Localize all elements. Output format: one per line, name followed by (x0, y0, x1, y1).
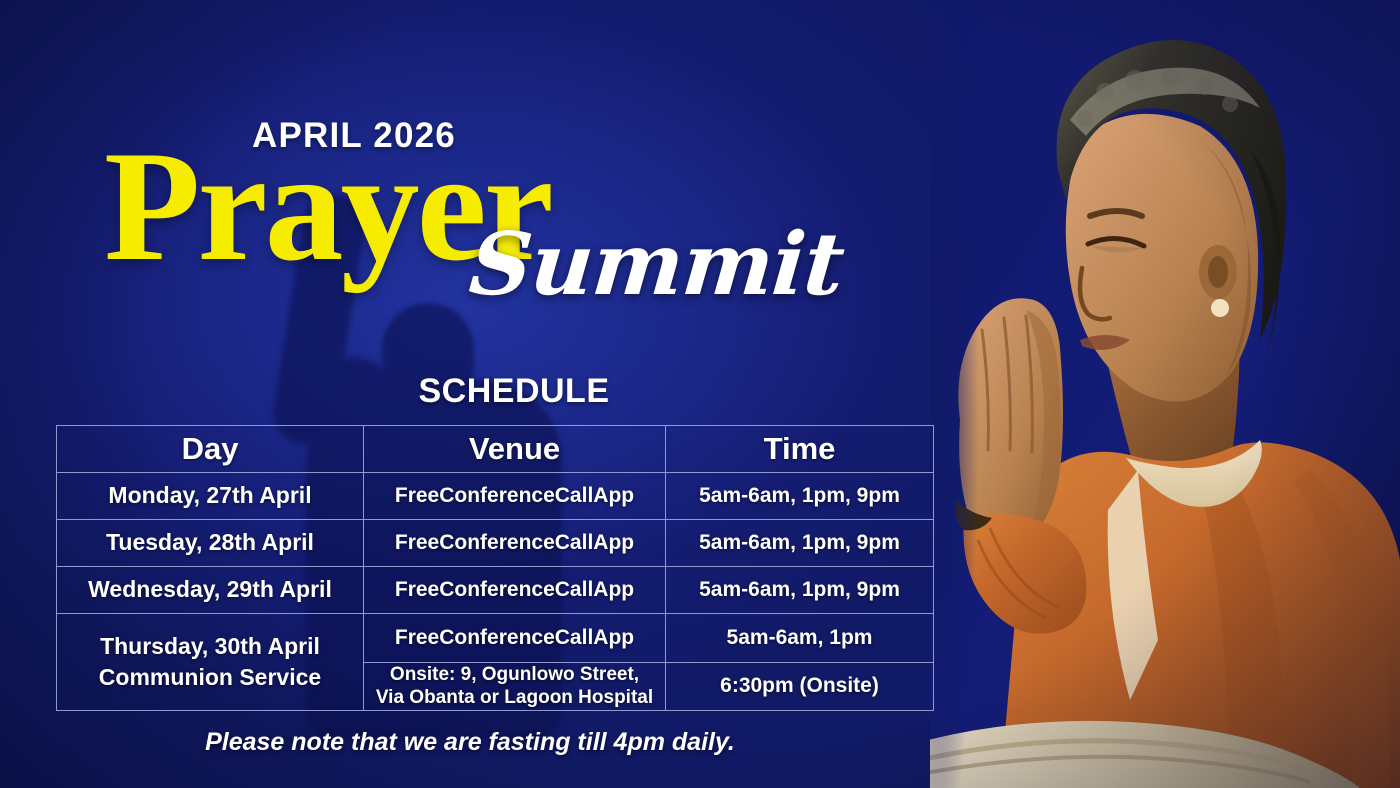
table-row: Wednesday, 29th April FreeConferenceCall… (57, 567, 934, 614)
schedule-table-body: Monday, 27th April FreeConferenceCallApp… (57, 473, 934, 711)
cell-venue-onsite-line2: Via Obanta or Lagoon Hospital (364, 686, 665, 710)
venue-subrow-onsite: Onsite: 9, Ogunlowo Street, Via Obanta o… (364, 662, 665, 710)
cell-time-online: 5am-6am, 1pm (666, 615, 933, 663)
schedule-table: Day Venue Time Monday, 27th April FreeCo… (56, 425, 934, 711)
cell-time-thursday: 5am-6am, 1pm 6:30pm (Onsite) (666, 614, 934, 711)
venue-subtable: FreeConferenceCallApp Onsite: 9, Ogunlow… (364, 614, 665, 710)
schedule-table-head: Day Venue Time (57, 426, 934, 473)
table-row: Monday, 27th April FreeConferenceCallApp… (57, 473, 934, 520)
time-subrow-online: 5am-6am, 1pm (666, 615, 933, 663)
cell-time: 5am-6am, 1pm, 9pm (666, 567, 934, 614)
column-header-time: Time (666, 426, 934, 473)
fasting-note: Please note that we are fasting till 4pm… (0, 728, 940, 757)
cell-day: Monday, 27th April (57, 473, 364, 520)
schedule-heading: SCHEDULE (363, 372, 665, 411)
cell-time: 5am-6am, 1pm, 9pm (666, 520, 934, 567)
cell-time-onsite: 6:30pm (Onsite) (666, 663, 933, 710)
headline-block: APRIL 2026 Prayer Summit (0, 0, 920, 340)
cell-day: Wednesday, 29th April (57, 567, 364, 614)
cell-venue: FreeConferenceCallApp (364, 473, 666, 520)
cell-venue: FreeConferenceCallApp (364, 520, 666, 567)
cell-venue-online: FreeConferenceCallApp (364, 614, 665, 662)
time-subrow-onsite: 6:30pm (Onsite) (666, 663, 933, 710)
cell-venue-onsite-line1: Onsite: 9, Ogunlowo Street, (364, 663, 665, 687)
cell-venue-onsite: Onsite: 9, Ogunlowo Street, Via Obanta o… (364, 662, 665, 710)
column-header-venue: Venue (364, 426, 666, 473)
table-row: Tuesday, 28th April FreeConferenceCallAp… (57, 520, 934, 567)
title-summit: Summit (466, 222, 847, 308)
table-header-row: Day Venue Time (57, 426, 934, 473)
time-subtable: 5am-6am, 1pm 6:30pm (Onsite) (666, 615, 933, 710)
venue-subrow-online: FreeConferenceCallApp (364, 614, 665, 662)
cell-day-thursday: Thursday, 30th April Communion Service (57, 614, 364, 711)
column-header-day: Day (57, 426, 364, 473)
cell-day-thursday-line2: Communion Service (63, 662, 357, 693)
prayer-summit-poster: APRIL 2026 Prayer Summit SCHEDULE Day Ve… (0, 0, 1400, 788)
cell-venue-thursday: FreeConferenceCallApp Onsite: 9, Ogunlow… (364, 614, 666, 711)
cell-day: Tuesday, 28th April (57, 520, 364, 567)
cell-day-thursday-line1: Thursday, 30th April (63, 631, 357, 662)
cell-time: 5am-6am, 1pm, 9pm (666, 473, 934, 520)
cell-venue: FreeConferenceCallApp (364, 567, 666, 614)
table-row-thursday: Thursday, 30th April Communion Service F… (57, 614, 934, 711)
